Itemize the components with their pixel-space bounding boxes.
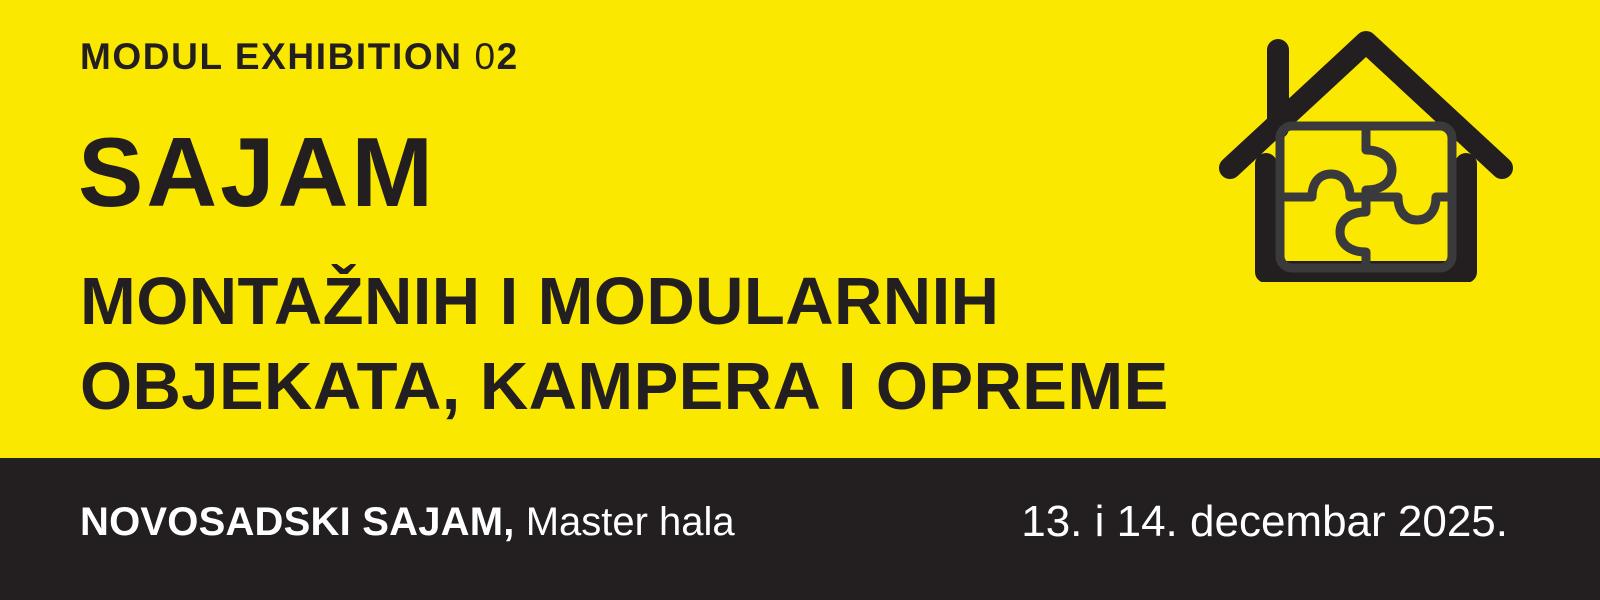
event-banner: MODUL EXHIBITION 02 SAJAM MONTAŽNIH I MO… [0, 0, 1600, 600]
house-puzzle-logo [1216, 22, 1516, 282]
eyebrow-label: MODUL EXHIBITION 02 [80, 36, 519, 78]
eyebrow-number-bold: 2 [497, 36, 519, 77]
eyebrow-number-light: 0 [474, 36, 496, 77]
eyebrow-text: MODUL EXHIBITION [80, 36, 474, 77]
event-dates: 13. i 14. decembar 2025. [1021, 500, 1508, 544]
puzzle-square-icon [1280, 126, 1452, 268]
footer-band: NOVOSADSKI SAJAM, Master hala 13. i 14. … [0, 458, 1600, 600]
subtitle-line-2: OBJEKATA, KAMPERA I OPREME [80, 353, 1169, 420]
page-title: SAJAM [78, 123, 436, 221]
venue-hall: Master hala [515, 500, 735, 544]
venue-name: NOVOSADSKI SAJAM, [80, 500, 515, 544]
hero-band: MODUL EXHIBITION 02 SAJAM MONTAŽNIH I MO… [0, 0, 1600, 458]
venue-info: NOVOSADSKI SAJAM, Master hala [80, 502, 735, 542]
house-outline-icon [1230, 42, 1502, 272]
subtitle-line-1: MONTAŽNIH I MODULARNIH [80, 268, 999, 335]
